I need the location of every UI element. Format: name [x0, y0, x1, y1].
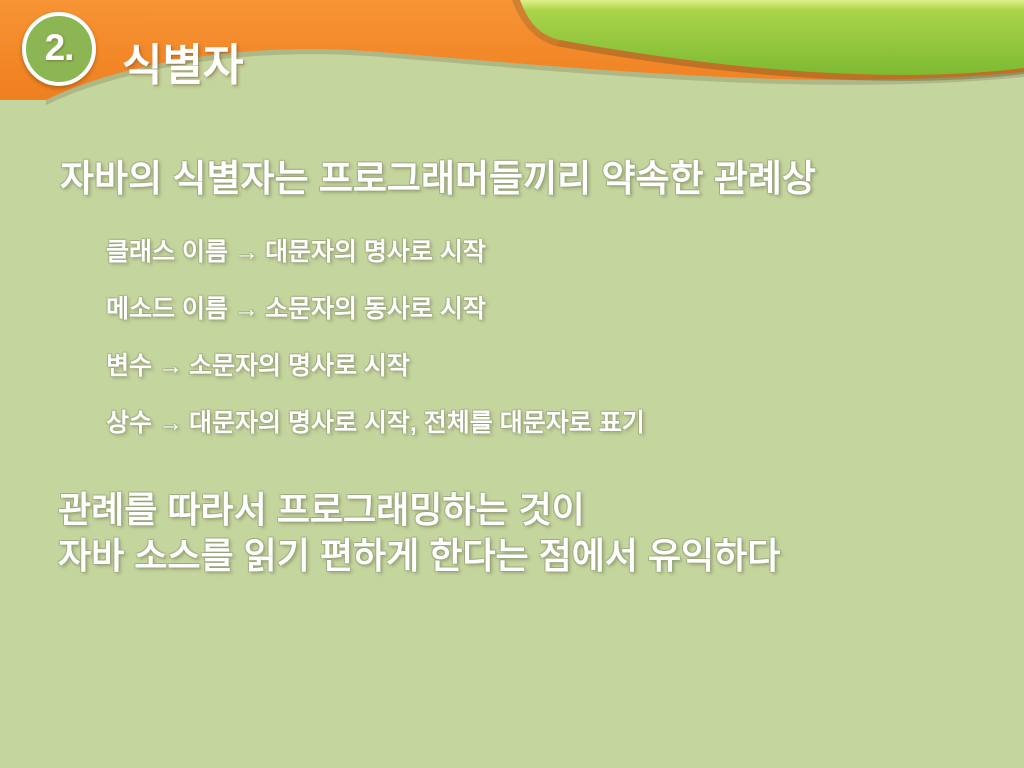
- lead-statement: 자바의 식별자는 프로그래머들끼리 약속한 관례상: [60, 157, 816, 201]
- conclusion-line-1: 관례를 따라서 프로그래밍하는 것이: [58, 487, 780, 533]
- slide-body: 자바의 식별자는 프로그래머들끼리 약속한 관례상 클래스 이름→대문자의 명사…: [0, 130, 1024, 768]
- rule-subject: 메소드 이름: [106, 295, 228, 323]
- slide-number-label: 2.: [45, 29, 74, 66]
- rule-description: 대문자의 명사로 시작, 전체를 대문자로 표기: [189, 409, 645, 437]
- rule-description: 대문자의 명사로 시작: [265, 238, 486, 266]
- rule-description: 소문자의 명사로 시작: [189, 352, 410, 380]
- arrow-right-icon: →: [152, 408, 189, 438]
- list-item: 변수→소문자의 명사로 시작: [106, 351, 645, 381]
- rule-description: 소문자의 동사로 시작: [265, 295, 486, 323]
- green-swoosh-shape: [520, 0, 1024, 75]
- rule-subject: 상수: [106, 409, 152, 437]
- naming-convention-list: 클래스 이름→대문자의 명사로 시작 메소드 이름→소문자의 동사로 시작 변수…: [106, 237, 645, 438]
- rule-subject: 클래스 이름: [106, 238, 228, 266]
- arrow-right-icon: →: [152, 351, 189, 381]
- rule-subject: 변수: [106, 352, 152, 380]
- page-title: 식별자: [122, 41, 243, 92]
- list-item: 메소드 이름→소문자의 동사로 시작: [106, 294, 645, 324]
- conclusion-line-2: 자바 소스를 읽기 편하게 한다는 점에서 유익하다: [58, 533, 780, 579]
- arrow-right-icon: →: [228, 237, 265, 267]
- slide-number-badge: 2.: [22, 12, 96, 86]
- list-item: 상수→대문자의 명사로 시작, 전체를 대문자로 표기: [106, 408, 645, 438]
- green-swoosh-shadow-shape: [556, 40, 1024, 81]
- presentation-slide: 2. 식별자 자바의 식별자는 프로그래머들끼리 약속한 관례상 클래스 이름→…: [0, 0, 1024, 768]
- green-swoosh-left-shadow-shape: [512, 0, 560, 46]
- arrow-right-icon: →: [228, 294, 265, 324]
- conclusion-statement: 관례를 따라서 프로그래밍하는 것이 자바 소스를 읽기 편하게 한다는 점에서…: [58, 487, 780, 579]
- list-item: 클래스 이름→대문자의 명사로 시작: [106, 237, 645, 267]
